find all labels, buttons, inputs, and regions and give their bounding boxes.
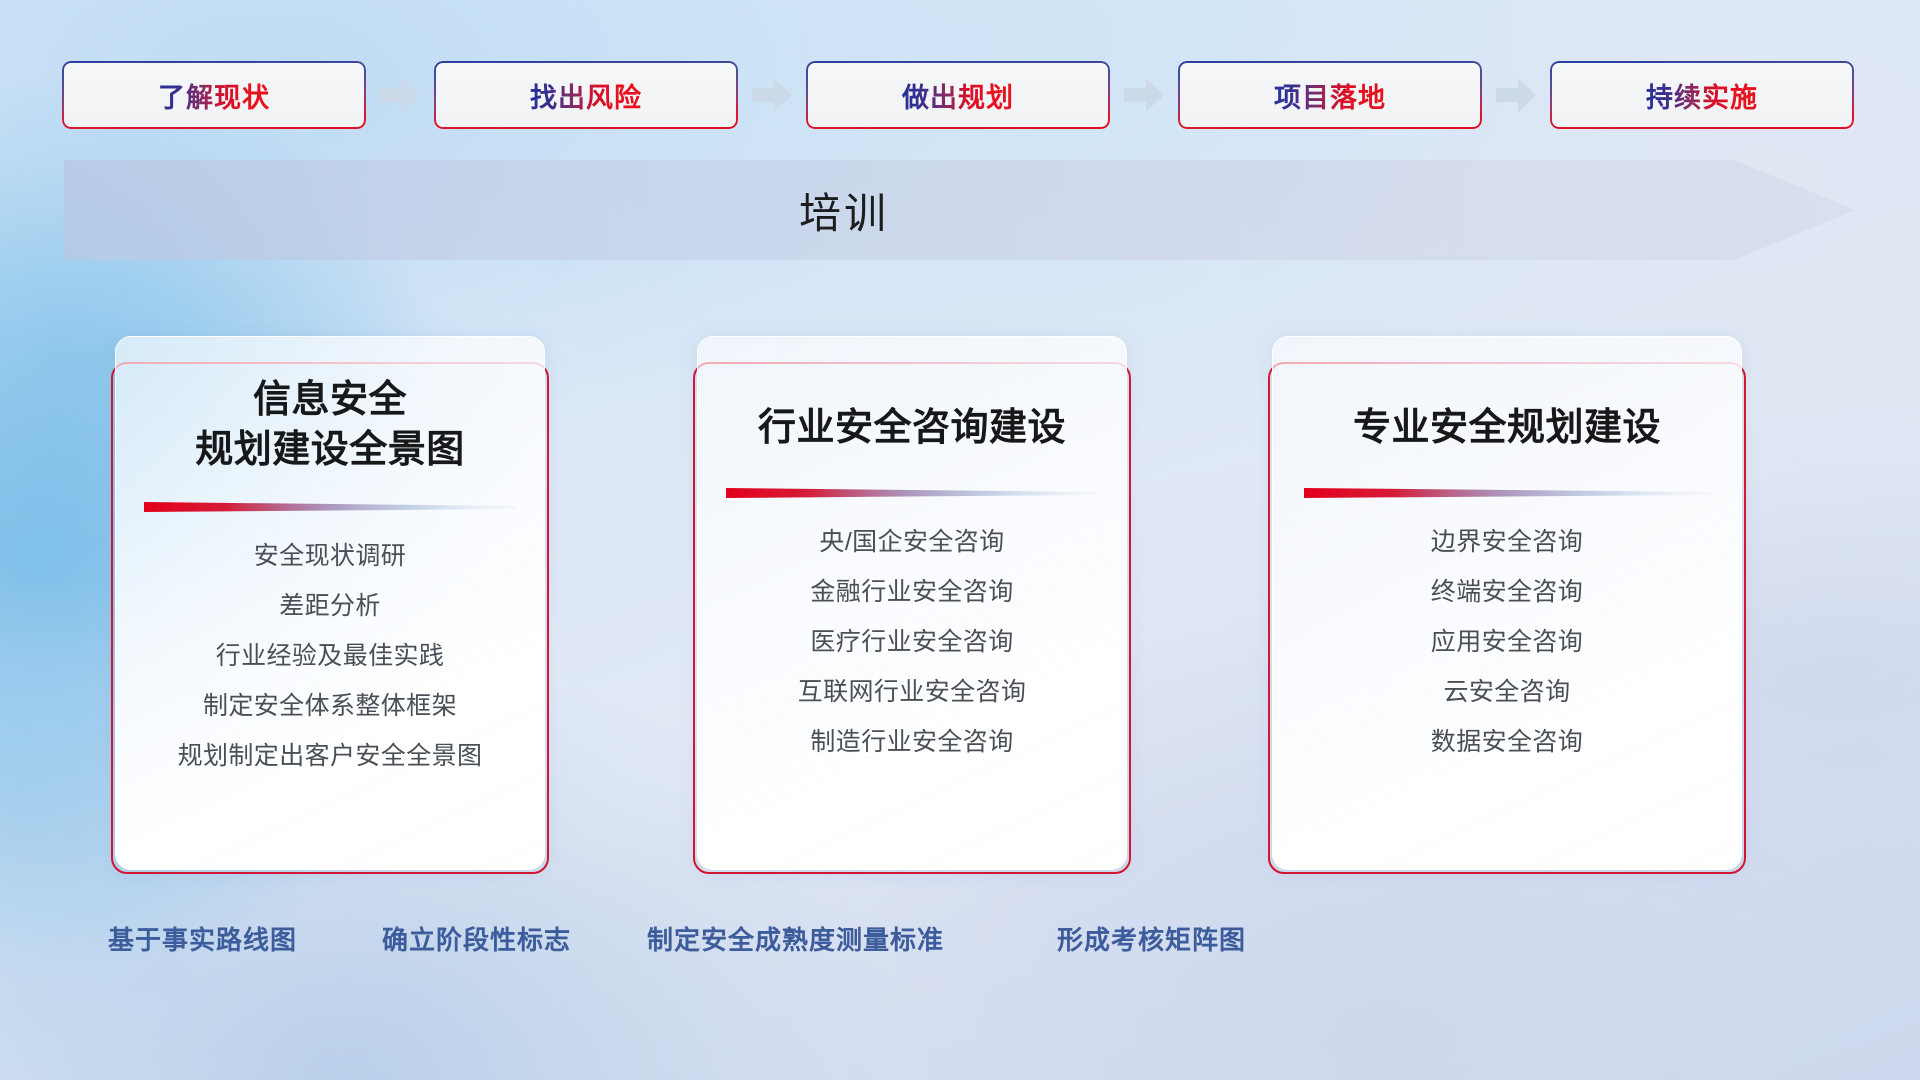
list-item: 互联网行业安全咨询: [798, 671, 1027, 713]
list-item: 金融行业安全咨询: [810, 571, 1013, 613]
step-label-5: 持续实施: [1646, 76, 1758, 115]
bottom-label-1: 基于事实路线图: [108, 920, 297, 957]
card-item-list: 边界安全咨询 终端安全咨询 应用安全咨询 云安全咨询 数据安全咨询: [1273, 521, 1741, 763]
arrow-right-icon: [377, 75, 423, 115]
card-face: 信息安全 规划建设全景图 安全现状调研: [115, 336, 545, 870]
arrow-right-icon: [1121, 75, 1167, 115]
step-box-3[interactable]: 做出规划: [806, 61, 1110, 129]
step-box-2[interactable]: 找出风险: [434, 61, 738, 129]
step-box-1[interactable]: 了解现状: [62, 61, 366, 129]
process-steps-row: 了解现状 找出风险 做出规划 项目落地 持续实施: [62, 60, 1862, 130]
list-item: 行业经验及最佳实践: [216, 635, 445, 677]
card-title: 信息安全 规划建设全景图: [195, 375, 465, 475]
step-box-5[interactable]: 持续实施: [1550, 61, 1854, 129]
step-label-4: 项目落地: [1274, 76, 1386, 115]
list-item: 差距分析: [279, 585, 381, 627]
card-divider-wedge: [1304, 487, 1710, 499]
list-item: 安全现状调研: [254, 535, 406, 577]
list-item: 应用安全咨询: [1431, 621, 1583, 663]
step-label-2: 找出风险: [530, 76, 642, 115]
card-professional-security-planning[interactable]: 专业安全规划建设 边界安全咨询: [1272, 336, 1742, 870]
step-label-1: 了解现状: [158, 76, 270, 115]
card-title: 专业安全规划建设: [1353, 403, 1661, 453]
cards-row: 信息安全 规划建设全景图 安全现状调研: [0, 336, 1920, 870]
bottom-label-2: 确立阶段性标志: [382, 920, 571, 957]
list-item: 医疗行业安全咨询: [810, 621, 1013, 663]
card-item-list: 安全现状调研 差距分析 行业经验及最佳实践 制定安全体系整体框架 规划制定出客户…: [116, 535, 544, 777]
list-item: 边界安全咨询: [1431, 521, 1583, 563]
list-item: 终端安全咨询: [1431, 571, 1583, 613]
list-item: 制定安全体系整体框架: [203, 685, 457, 727]
card-face: 行业安全咨询建设 央/国企安全咨询: [697, 336, 1127, 870]
training-banner: 培训: [64, 160, 1856, 260]
bottom-outcome-labels: 基于事实路线图 确立阶段性标志 制定安全成熟度测量标准 形成考核矩阵图: [0, 920, 1920, 980]
card-title: 行业安全咨询建设: [758, 403, 1066, 453]
card-divider-wedge: [144, 501, 516, 513]
list-item: 云安全咨询: [1443, 671, 1570, 713]
list-item: 数据安全咨询: [1431, 721, 1583, 763]
card-item-list: 央/国企安全咨询 金融行业安全咨询 医疗行业安全咨询 互联网行业安全咨询 制造行…: [698, 521, 1126, 763]
card-divider-wedge: [726, 487, 1098, 499]
arrow-right-icon: [1493, 75, 1539, 115]
list-item: 规划制定出客户安全全景图: [178, 735, 483, 777]
list-item: 制造行业安全咨询: [810, 721, 1013, 763]
step-box-4[interactable]: 项目落地: [1178, 61, 1482, 129]
step-label-3: 做出规划: [902, 76, 1014, 115]
bottom-label-4: 形成考核矩阵图: [1057, 920, 1246, 957]
card-info-security-blueprint[interactable]: 信息安全 规划建设全景图 安全现状调研: [115, 336, 545, 870]
card-industry-security-consulting[interactable]: 行业安全咨询建设 央/国企安全咨询: [697, 336, 1127, 870]
card-face: 专业安全规划建设 边界安全咨询: [1272, 336, 1742, 870]
bottom-label-3: 制定安全成熟度测量标准: [647, 920, 944, 957]
list-item: 央/国企安全咨询: [819, 521, 1004, 563]
banner-title: 培训: [64, 160, 1624, 260]
arrow-right-icon: [749, 75, 795, 115]
